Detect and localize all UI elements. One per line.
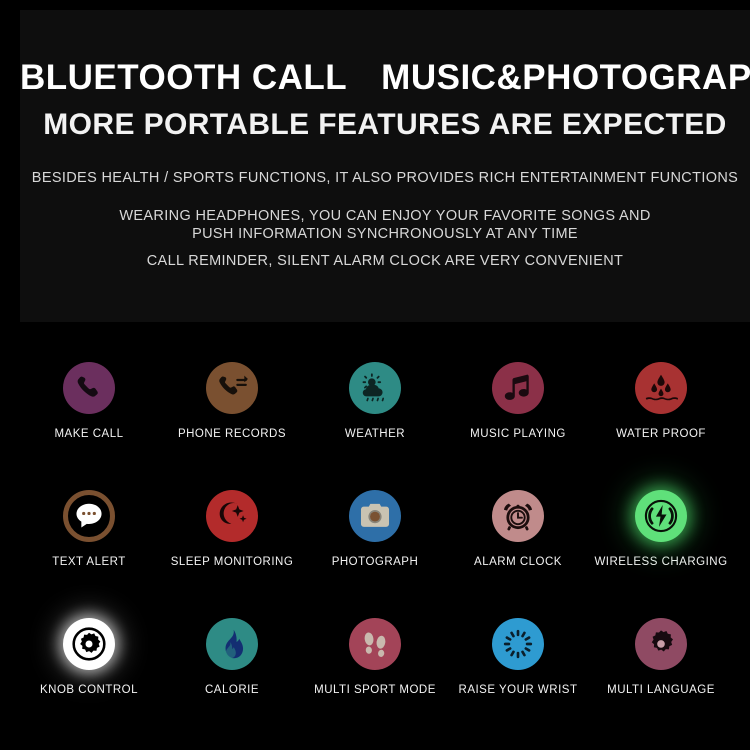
feature-item[interactable]: CALORIE: [161, 618, 303, 696]
phone-records-icon[interactable]: [206, 362, 258, 414]
feature-item[interactable]: MAKE CALL: [18, 362, 160, 440]
feature-item[interactable]: MUSIC PLAYING: [447, 362, 589, 440]
alarm-clock-icon[interactable]: [492, 490, 544, 542]
feature-label: MULTI SPORT MODE: [314, 684, 436, 696]
feature-item[interactable]: RAISE YOUR WRIST: [447, 618, 589, 696]
feature-label: PHOTOGRAPH: [332, 556, 419, 568]
feature-item[interactable]: SLEEP MONITORING: [161, 490, 303, 568]
flame-icon[interactable]: [206, 618, 258, 670]
feature-label: MUSIC PLAYING: [470, 428, 566, 440]
body-line-1: BESIDES HEALTH / SPORTS FUNCTIONS, IT AL…: [20, 170, 750, 186]
feature-row-1: MAKE CALLPHONE RECORDSWEATHERMUSIC PLAYI…: [18, 362, 732, 440]
feature-overview-page: BLUETOOTH CALLMUSIC&PHOTOGRAPH MORE PORT…: [0, 0, 750, 750]
feature-item[interactable]: KNOB CONTROL: [18, 618, 160, 696]
body-line-3: PUSH INFORMATION SYNCHRONOUSLY AT ANY TI…: [20, 226, 750, 242]
feature-item[interactable]: WEATHER: [304, 362, 446, 440]
feature-label: TEXT ALERT: [52, 556, 126, 568]
feature-item[interactable]: MULTI LANGUAGE: [590, 618, 732, 696]
feature-label: WIRELESS CHARGING: [594, 556, 727, 568]
moon-stars-icon[interactable]: [206, 490, 258, 542]
body-line-4: CALL REMINDER, SILENT ALARM CLOCK ARE VE…: [20, 253, 750, 269]
feature-label: RAISE YOUR WRIST: [459, 684, 578, 696]
sub-headline: MORE PORTABLE FEATURES ARE EXPECTED: [20, 108, 750, 142]
headline-left-text: BLUETOOTH CALL: [20, 58, 347, 97]
header-panel: BLUETOOTH CALLMUSIC&PHOTOGRAPH MORE PORT…: [20, 10, 750, 322]
feature-item[interactable]: WATER PROOF: [590, 362, 732, 440]
feature-label: SLEEP MONITORING: [171, 556, 294, 568]
feature-label: WEATHER: [345, 428, 405, 440]
feature-item[interactable]: MULTI SPORT MODE: [304, 618, 446, 696]
feature-item[interactable]: PHONE RECORDS: [161, 362, 303, 440]
main-headline: BLUETOOTH CALLMUSIC&PHOTOGRAPH: [20, 58, 750, 98]
feature-label: PHONE RECORDS: [178, 428, 286, 440]
feature-icon-grid: MAKE CALLPHONE RECORDSWEATHERMUSIC PLAYI…: [0, 350, 750, 740]
feature-label: KNOB CONTROL: [40, 684, 138, 696]
raise-wrist-ring-icon[interactable]: [492, 618, 544, 670]
water-drops-icon[interactable]: [635, 362, 687, 414]
language-gear-icon[interactable]: [635, 618, 687, 670]
feature-label: WATER PROOF: [616, 428, 706, 440]
feature-item[interactable]: WIRELESS CHARGING: [590, 490, 732, 568]
feature-item[interactable]: PHOTOGRAPH: [304, 490, 446, 568]
wireless-charging-icon[interactable]: [635, 490, 687, 542]
weather-sun-cloud-rain-icon[interactable]: [349, 362, 401, 414]
body-line-2: WEARING HEADPHONES, YOU CAN ENJOY YOUR F…: [20, 208, 750, 224]
feature-label: CALORIE: [205, 684, 259, 696]
feature-row-2: TEXT ALERTSLEEP MONITORINGPHOTOGRAPHALAR…: [18, 490, 732, 568]
chat-bubble-icon[interactable]: [63, 490, 115, 542]
camera-icon[interactable]: [349, 490, 401, 542]
feature-item[interactable]: ALARM CLOCK: [447, 490, 589, 568]
phone-icon[interactable]: [63, 362, 115, 414]
footprints-icon[interactable]: [349, 618, 401, 670]
feature-row-3: KNOB CONTROLCALORIEMULTI SPORT MODERAISE…: [18, 618, 732, 696]
knob-gear-icon[interactable]: [63, 618, 115, 670]
feature-label: MAKE CALL: [54, 428, 123, 440]
music-note-icon[interactable]: [492, 362, 544, 414]
feature-label: ALARM CLOCK: [474, 556, 562, 568]
headline-right-text: MUSIC&PHOTOGRAPH: [381, 58, 750, 97]
feature-label: MULTI LANGUAGE: [607, 684, 715, 696]
feature-item[interactable]: TEXT ALERT: [18, 490, 160, 568]
